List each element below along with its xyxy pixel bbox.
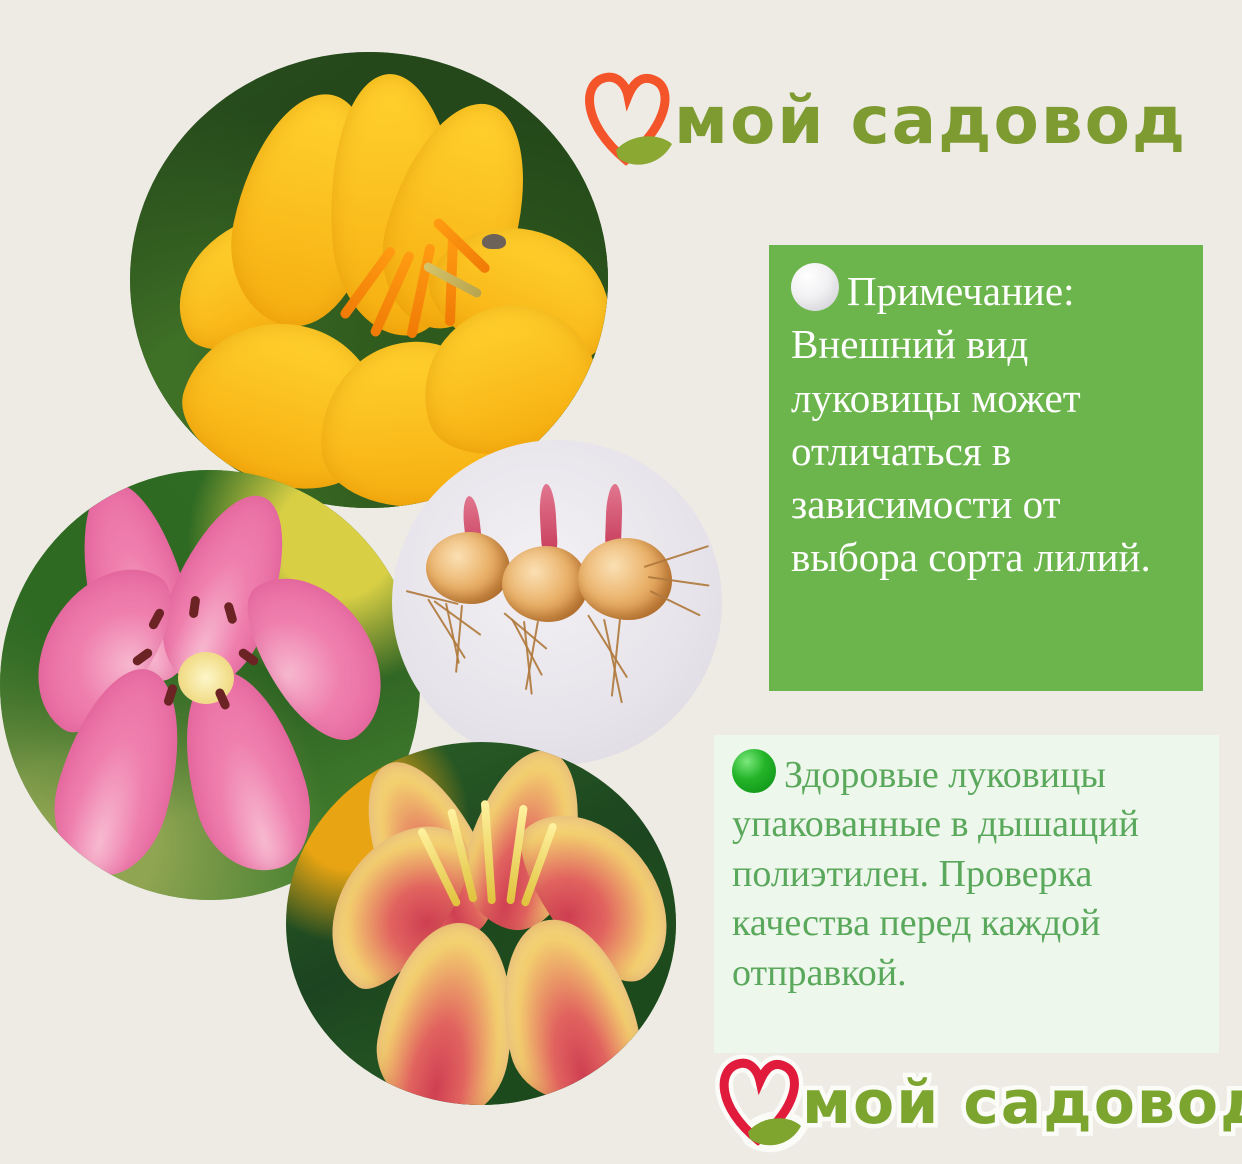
white-sphere-bullet-icon [791,263,839,311]
lily-bulbs-group [392,440,722,765]
brand-logo-top: мой садовод [576,62,1187,178]
brand-wordmark: мой садовод [674,82,1187,159]
photo-bicolor-lily [286,742,676,1105]
note-panel: Примечание: Внешний вид луковицы может о… [769,245,1203,691]
brand-wordmark: мой садовод [802,1068,1242,1138]
green-sphere-bullet-icon [732,749,776,793]
heart-leaf-icon [712,1050,808,1156]
note-body: Внешний вид луковицы может отличаться в … [791,321,1151,580]
heart-leaf-icon [576,62,680,178]
quality-panel: Здоровые луковицы упакованные в дышащий … [714,735,1219,1053]
photo-lily-bulbs [392,440,722,765]
poster-canvas: мой садовод Примечание: Внешний вид луко… [0,0,1242,1164]
brand-logo-bottom: мой садовод [712,1050,1242,1156]
quality-body: Здоровые луковицы упакованные в дышащий … [732,754,1139,994]
note-heading: Примечание: [847,268,1074,314]
bicolor-lily-bloom [286,742,676,1105]
